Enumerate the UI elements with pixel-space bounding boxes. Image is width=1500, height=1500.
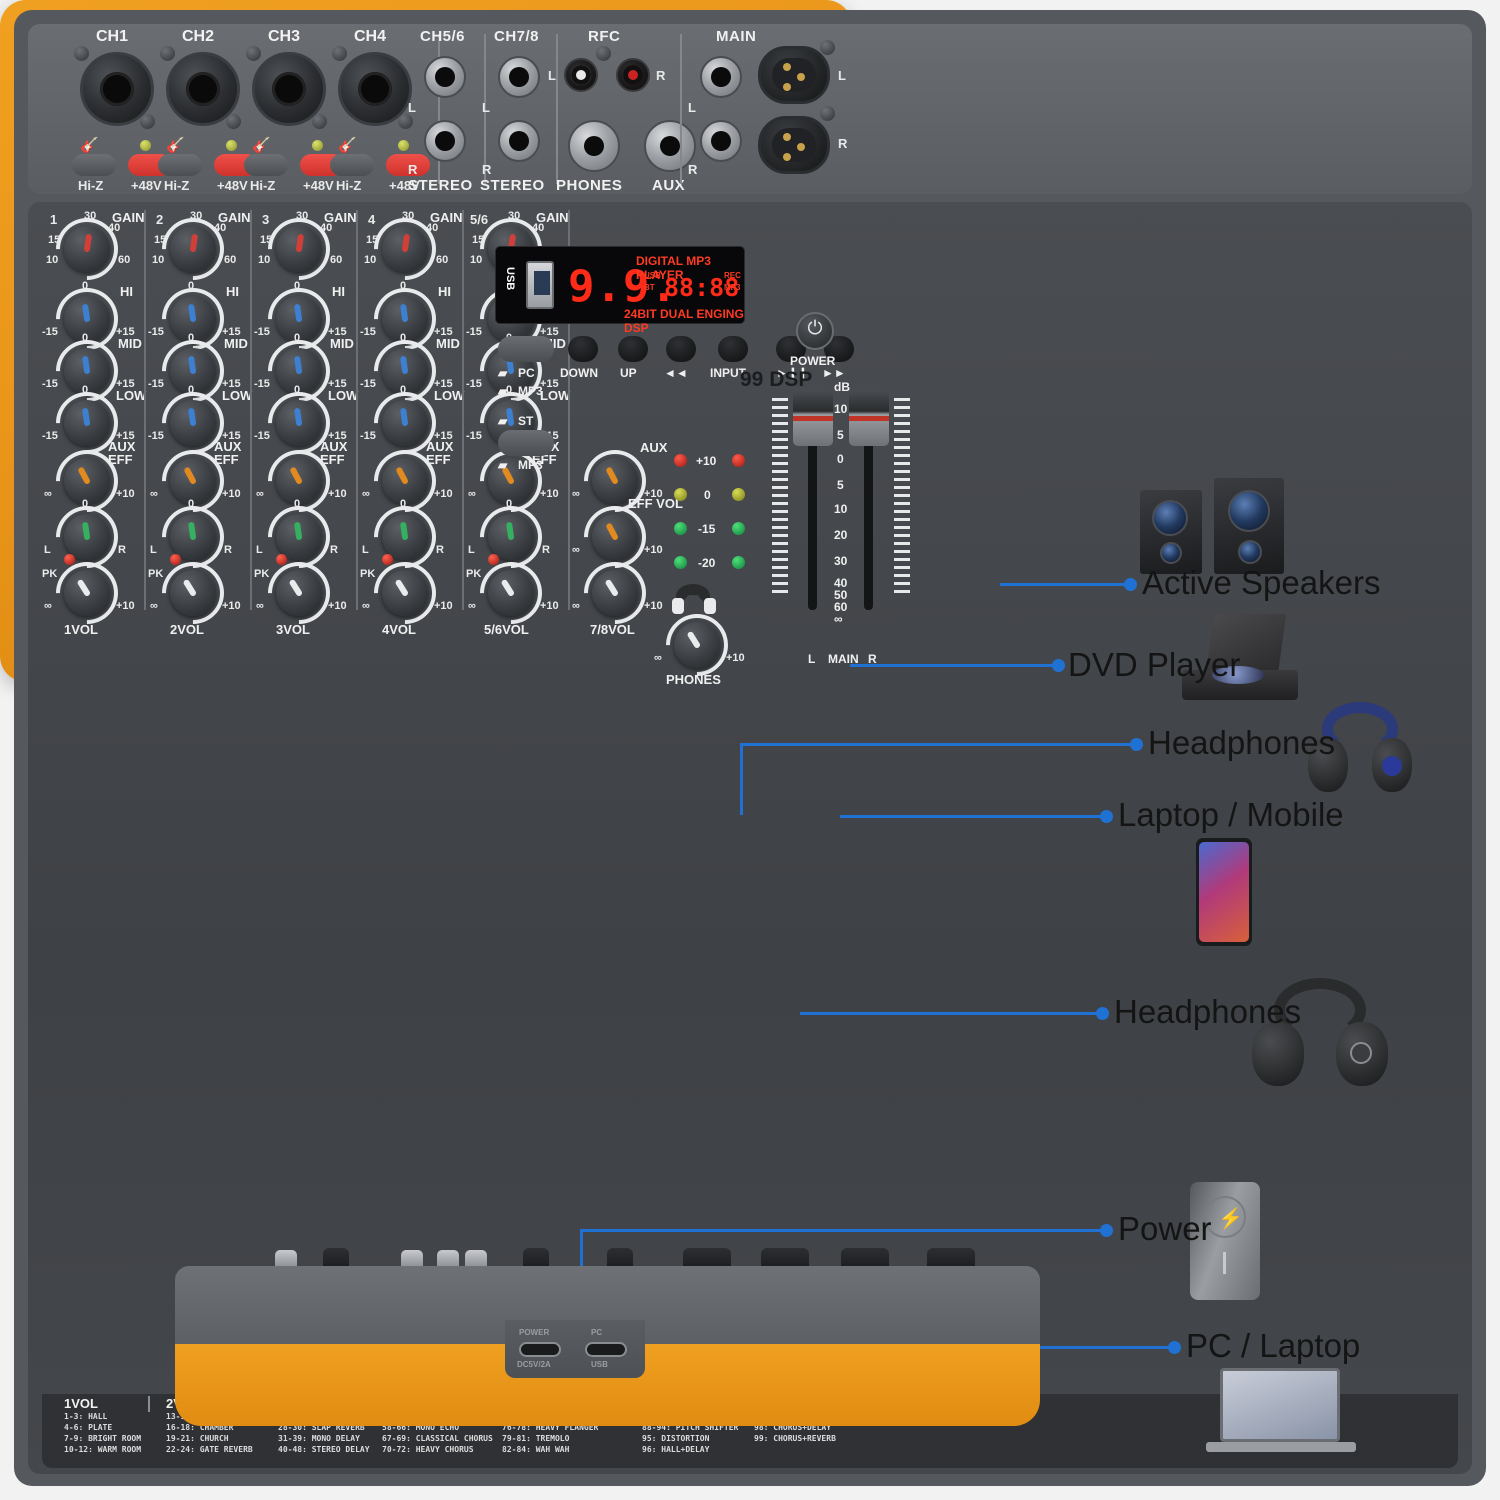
aux-min-4: ∞ (362, 488, 370, 500)
main-left-label: L (688, 100, 696, 115)
xlr-output-right[interactable] (758, 116, 830, 174)
legend-item: 95: DISTORTION (642, 1433, 738, 1444)
eff-vol-max: +10 (644, 544, 663, 556)
hiz-label-ch3: Hi-Z (250, 178, 275, 193)
rca-jack-right[interactable] (616, 58, 650, 92)
scale-5b: 5 (837, 478, 844, 492)
rca-jack-left[interactable] (564, 58, 598, 92)
callout-line-active-speakers-right (1000, 583, 1128, 586)
vol-min-3: ∞ (256, 600, 264, 612)
mid-knob-label-4: MID (436, 336, 460, 351)
scale-5: 5 (837, 428, 844, 442)
master-aux-label: AUX (640, 440, 667, 455)
meter-led-minus20-left (674, 556, 687, 569)
volume-knob-ch2[interactable] (166, 566, 220, 620)
power-label: POWER (790, 354, 835, 368)
gain-min-2: 10 (152, 254, 164, 266)
strip-divider (462, 210, 464, 610)
gain-max-4: 60 (436, 254, 448, 266)
peak-label-1: PK (42, 568, 57, 580)
master-78-vol-min: ∞ (572, 600, 580, 612)
master-78-vol-max: +10 (644, 600, 663, 612)
pc-button-label: PC (518, 366, 535, 380)
rca-right-label: R (656, 68, 665, 83)
phantom-label-ch2: +48V (217, 178, 248, 193)
gain-min-1: 10 (46, 254, 58, 266)
low-knob-label-4: LOW (434, 388, 464, 403)
power-button[interactable] (796, 312, 834, 350)
pan-right-1: R (118, 544, 126, 556)
panel-divider (680, 34, 682, 184)
gain-knob-ch3[interactable] (272, 222, 326, 276)
usb-indicator: USB (644, 271, 661, 281)
volume-knob-ch1[interactable] (60, 566, 114, 620)
usb-label: USB (504, 267, 516, 290)
right-label: R (408, 162, 417, 177)
legend-item: 67-69: CLASSICAL CHORUS (382, 1433, 493, 1444)
xlr-output-left[interactable] (758, 46, 830, 104)
phantom-led (312, 140, 323, 151)
left-label: L (482, 100, 490, 115)
low-min-3: -15 (254, 430, 270, 442)
callout-line-dvd-player (850, 664, 1056, 667)
hiz-button-ch4[interactable] (330, 154, 374, 176)
legend-item: 96: HALL+DELAY (642, 1444, 738, 1455)
peak-led-ch4 (382, 554, 393, 565)
screw-icon (160, 46, 175, 61)
pan-right-56: R (542, 544, 550, 556)
legend-item: 31-39: MONO DELAY (278, 1433, 370, 1444)
mid-min-1: -15 (42, 378, 58, 390)
studio-monitor-pair-right-image (1140, 478, 1288, 574)
peak-led-ch2 (170, 554, 181, 565)
hi-knob-label-1: HI (120, 284, 133, 299)
phones-knob-min: ∞ (654, 652, 662, 664)
vol-name-56: 5/6VOL (484, 622, 529, 637)
phantom-led (398, 140, 409, 151)
gain-max-2: 60 (224, 254, 236, 266)
strip-divider (356, 210, 358, 610)
fader-left-label: L (808, 652, 815, 666)
strip-divider (144, 210, 146, 610)
phones-jack-label: PHONES (556, 177, 622, 194)
volume-knob-ch4[interactable] (378, 566, 432, 620)
low-min-4: -15 (360, 430, 376, 442)
rec-indicator: REC (724, 271, 741, 281)
phones-knob-label: PHONES (666, 672, 721, 687)
eff-vol-knob[interactable] (588, 510, 642, 564)
low-min-1: -15 (42, 430, 58, 442)
left-label: L (408, 100, 416, 115)
mid-knob-label-3: MID (330, 336, 354, 351)
mid-knob-label-2: MID (224, 336, 248, 351)
gain-min-4: 10 (364, 254, 376, 266)
mp3-indicator: MP3 (724, 283, 740, 293)
meter-led-0-left (674, 488, 687, 501)
pc-mp3-toggle-button[interactable] (498, 336, 554, 362)
meter-led-minus15-left (674, 522, 687, 535)
legend-item: 40-48: STEREO DELAY (278, 1444, 370, 1455)
pan-left-1: L (44, 544, 51, 556)
volume-knob-ch56[interactable] (484, 566, 538, 620)
legend-item: 70-72: HEAVY CHORUS (382, 1444, 493, 1455)
panel-divider (556, 34, 558, 184)
st-button-label: ST (518, 414, 533, 428)
stereo-group-label-ch78: CH7/8 (494, 28, 539, 45)
peak-led-ch56 (488, 554, 499, 565)
vol-max-3: +10 (328, 600, 347, 612)
aux-min-56: ∞ (468, 488, 476, 500)
trs-jack-ch56-right[interactable] (424, 120, 466, 162)
low-eq-knob-ch3[interactable] (272, 396, 326, 450)
meter-led-plus10-left (674, 454, 687, 467)
mid-knob-label-1: MID (118, 336, 142, 351)
down-button-label: DOWN (560, 366, 598, 380)
vol-name-1: 1VOL (64, 622, 98, 637)
meter-label-minus20: -20 (698, 556, 715, 570)
low-eq-knob-ch4[interactable] (378, 396, 432, 450)
up-button-label: UP (620, 366, 637, 380)
guitar-icon: 🎸 (80, 136, 102, 152)
usb-port-spec: USB (591, 1360, 608, 1369)
vol-name-3: 3VOL (276, 622, 310, 637)
vol-max-56: +10 (540, 600, 559, 612)
callout-line-headphones-black (800, 1012, 1100, 1015)
vol-name-4: 4VOL (382, 622, 416, 637)
legend-item: 82-84: WAH WAH (502, 1444, 618, 1455)
hiz-label-ch4: Hi-Z (336, 178, 361, 193)
pan-left-3: L (256, 544, 263, 556)
channel-label-ch1: CH1 (96, 28, 128, 46)
screw-icon (226, 114, 241, 129)
meter-led-plus10-right (732, 454, 745, 467)
stereo-label-ch56: STEREO (408, 177, 473, 194)
aux-min-2: ∞ (150, 488, 158, 500)
hi-knob-label-3: HI (332, 284, 345, 299)
st-icon: ▰ (498, 414, 507, 428)
down-button[interactable] (568, 336, 598, 362)
screw-icon (820, 40, 835, 55)
mixer-top-view: CH1 CH2 CH3 CH4 🎸 Hi-Z +48V 🎸 Hi- (0, 0, 852, 682)
low-knob-label-1: LOW (116, 388, 146, 403)
vol-min-56: ∞ (468, 600, 476, 612)
hi-knob-label-4: HI (438, 284, 451, 299)
channel-label-ch4: CH4 (354, 28, 386, 46)
legend-item: 10-12: WARM ROOM (64, 1444, 141, 1455)
hi-knob-label-2: HI (226, 284, 239, 299)
vol-min-4: ∞ (362, 600, 370, 612)
power-port-spec: DC5V/2A (517, 1360, 551, 1369)
legend-title: 1VOL (64, 1396, 141, 1411)
volume-knob-ch3[interactable] (272, 566, 326, 620)
low-eq-knob-ch2[interactable] (166, 396, 220, 450)
peak-led-ch3 (276, 554, 287, 565)
screw-icon (140, 114, 155, 129)
guitar-icon: 🎸 (338, 136, 360, 152)
trs-jack-ch78-left[interactable] (498, 56, 540, 98)
usb-port-name: PC (591, 1328, 602, 1337)
mixer-rear-view: POWER DC5V/2A PC USB (175, 1248, 1040, 1433)
callout-label-power: Power (1118, 1210, 1212, 1248)
strip-divider (250, 210, 252, 610)
main-trs-right[interactable] (700, 120, 742, 162)
peak-label-3: PK (254, 568, 269, 580)
gain-knob-ch4[interactable] (378, 222, 432, 276)
up-button[interactable] (618, 336, 648, 362)
peak-label-4: PK (360, 568, 375, 580)
phantom-label-ch3: +48V (303, 178, 334, 193)
power-port-name: POWER (519, 1328, 549, 1337)
low-knob-label-56: LOW (540, 388, 570, 403)
hiz-button-ch2[interactable] (158, 154, 202, 176)
screw-icon (246, 46, 261, 61)
aux-max-2: +10 (222, 488, 241, 500)
mp3-dsp-display: USB 9.9. DIGITAL MP3 PLAYER USB BT 88:88… (495, 246, 745, 324)
jack-panel: CH1 CH2 CH3 CH4 🎸 Hi-Z +48V 🎸 Hi- (28, 24, 1472, 194)
gain-min-3: 10 (258, 254, 270, 266)
eff-vol-min: ∞ (572, 544, 580, 556)
main-right-label: R (688, 162, 697, 177)
vol-max-2: +10 (222, 600, 241, 612)
legend-divider (148, 1396, 150, 1412)
hi-min-56: -15 (466, 326, 482, 338)
callout-label-active-speakers-right: Active Speakers (1142, 564, 1380, 602)
pc-usbc-port[interactable] (585, 1342, 627, 1357)
xlr-out-left-label: L (838, 68, 846, 83)
pan-right-4: R (436, 544, 444, 556)
pan-left-56: L (468, 544, 475, 556)
trs-jack-ch56-left[interactable] (424, 56, 466, 98)
stereo-label-ch78: STEREO (480, 177, 545, 194)
aux-max-4: +10 (434, 488, 453, 500)
rca-left-label: L (548, 68, 556, 83)
callout-line-headphones-blue-v (740, 743, 743, 815)
hiz-button-ch3[interactable] (244, 154, 288, 176)
gain-min-56: 10 (470, 254, 482, 266)
main-trs-left[interactable] (700, 56, 742, 98)
pan-left-2: L (150, 544, 157, 556)
scale-10: 10 (834, 402, 847, 416)
previous-track-button[interactable] (666, 336, 696, 362)
low-eq-knob-ch1[interactable] (60, 396, 114, 450)
mp3-icon: ▰ (498, 384, 507, 398)
master-78-volume-knob[interactable] (588, 566, 642, 620)
hiz-label-ch2: Hi-Z (164, 178, 189, 193)
meter-tick-column (894, 398, 910, 598)
peak-label-2: PK (148, 568, 163, 580)
legend-item: 79-81: TREMOLO (502, 1433, 618, 1444)
aux-max-1: +10 (116, 488, 135, 500)
strip-number-4: 4 (368, 212, 375, 227)
hi-min-4: -15 (360, 326, 376, 338)
mid-min-56: -15 (466, 378, 482, 390)
scale-inf: ∞ (834, 612, 843, 626)
meter-label-minus15: -15 (698, 522, 715, 536)
hi-min-2: -15 (148, 326, 164, 338)
channel-label-ch3: CH3 (268, 28, 300, 46)
legend-item: 22-24: GATE REVERB (166, 1444, 253, 1455)
vol-max-1: +10 (116, 600, 135, 612)
phantom-led (140, 140, 151, 151)
low-knob-label-2: LOW (222, 388, 252, 403)
aux-max-3: +10 (328, 488, 347, 500)
headphones-icon (670, 582, 718, 614)
legend-item: 1-3: HALL (64, 1411, 141, 1422)
low-min-2: -15 (148, 430, 164, 442)
screw-icon (74, 46, 89, 61)
screw-icon (596, 46, 611, 61)
callout-label-pc-laptop: PC / Laptop (1186, 1327, 1360, 1365)
previous-track-icon: ◄◄ (664, 366, 688, 380)
gain-knob-ch1[interactable] (60, 222, 114, 276)
hiz-label-ch1: Hi-Z (78, 178, 103, 193)
callout-line-power (580, 1229, 1104, 1232)
stereo-group-label-ch56: CH5/6 (420, 28, 465, 45)
main-out-label: MAIN (716, 28, 756, 45)
channel-label-ch2: CH2 (182, 28, 214, 46)
rca-group-label: RFC (588, 28, 620, 45)
meter-label-plus10: +10 (696, 454, 716, 468)
scale-20: 20 (834, 528, 847, 542)
input-button[interactable] (718, 336, 748, 362)
usb-port[interactable] (526, 261, 554, 309)
meter-led-minus20-right (732, 556, 745, 569)
mid-min-2: -15 (148, 378, 164, 390)
vol-min-1: ∞ (44, 600, 52, 612)
legend-column: 1VOL 1-3: HALL 4-6: PLATE 7-9: BRIGHT RO… (64, 1396, 141, 1455)
master-aux-min: ∞ (572, 488, 580, 500)
scale-10b: 10 (834, 502, 847, 516)
trs-jack-ch78-right[interactable] (498, 120, 540, 162)
scale-30: 30 (834, 554, 847, 568)
phantom-label-ch1: +48V (131, 178, 162, 193)
dsp-badge: 99 DSP (740, 368, 812, 392)
legend-item: 4-6: PLATE (64, 1422, 141, 1433)
legend-item: 19-21: CHURCH (166, 1433, 253, 1444)
low-min-56: -15 (466, 430, 482, 442)
hi-min-3: -15 (254, 326, 270, 338)
vol-name-78: 7/8VOL (590, 622, 635, 637)
aux-min-3: ∞ (256, 488, 264, 500)
smartphone-image (1196, 838, 1252, 946)
callout-label-laptop-mobile: Laptop / Mobile (1118, 796, 1344, 834)
meter-led-0-right (732, 488, 745, 501)
gain-knob-ch2[interactable] (166, 222, 220, 276)
meter-led-minus15-right (732, 522, 745, 535)
strip-number-1: 1 (50, 212, 57, 227)
legend-item: 7-9: BRIGHT ROOM (64, 1433, 141, 1444)
pan-right-3: R (330, 544, 338, 556)
phantom-led (226, 140, 237, 151)
hiz-button-ch1[interactable] (72, 154, 116, 176)
power-usbc-port[interactable] (519, 1342, 561, 1357)
mid-min-4: -15 (360, 378, 376, 390)
callout-line-laptop-mobile (840, 815, 1104, 818)
meter-tick-column (772, 398, 788, 598)
gain-max-3: 60 (330, 254, 342, 266)
scale-0: 0 (837, 452, 844, 466)
aux-min-1: ∞ (44, 488, 52, 500)
guitar-icon: 🎸 (166, 136, 188, 152)
right-label: R (482, 162, 491, 177)
pc-icon: ▰ (498, 366, 507, 380)
phones-knob-max: +10 (726, 652, 745, 664)
strip-number-2: 2 (156, 212, 163, 227)
dsp-bottom-line: 24BIT DUAL ENGING DSP (624, 307, 744, 335)
st-mp3-label: MP3 (518, 458, 543, 472)
peak-led-ch1 (64, 554, 75, 565)
pan-right-2: R (224, 544, 232, 556)
callout-label-dvd-player: DVD Player (1068, 646, 1240, 684)
st-mp3-toggle-button[interactable] (498, 430, 554, 456)
vol-min-2: ∞ (150, 600, 158, 612)
xlr-out-right-label: R (838, 136, 847, 151)
callout-label-headphones-black: Headphones (1114, 993, 1301, 1031)
pan-left-4: L (362, 544, 369, 556)
meter-label-0: 0 (704, 488, 711, 502)
main-fader-left-cap[interactable] (793, 390, 833, 446)
strip-number-3: 3 (262, 212, 269, 227)
vol-max-4: +10 (434, 600, 453, 612)
callout-label-headphones-blue: Headphones (1148, 724, 1335, 762)
peak-label-56: PK (466, 568, 481, 580)
main-fader-right-cap[interactable] (849, 390, 889, 446)
meter-unit-label: dB (834, 380, 850, 394)
screw-icon (820, 106, 835, 121)
low-knob-label-3: LOW (328, 388, 358, 403)
gain-max-1: 60 (118, 254, 130, 266)
bt-indicator: BT (644, 283, 655, 293)
st-mp3-icon: ▰ (498, 458, 507, 472)
guitar-icon: 🎸 (252, 136, 274, 152)
phones-volume-knob[interactable] (670, 618, 724, 672)
legend-item: 99: CHORUS+REVERB (754, 1433, 836, 1444)
aux-max-56: +10 (540, 488, 559, 500)
phones-jack[interactable] (568, 120, 620, 172)
mid-min-3: -15 (254, 378, 270, 390)
rear-port-block: POWER DC5V/2A PC USB (505, 1320, 645, 1378)
laptop-image (1206, 1368, 1356, 1464)
next-track-icon: ►► (822, 366, 846, 380)
screw-icon (398, 114, 413, 129)
screw-icon (332, 46, 347, 61)
vol-name-2: 2VOL (170, 622, 204, 637)
mp3-button-label: MP3 (518, 384, 543, 398)
callout-line-headphones-blue (740, 743, 1134, 746)
screw-icon (312, 114, 327, 129)
hi-min-1: -15 (42, 326, 58, 338)
